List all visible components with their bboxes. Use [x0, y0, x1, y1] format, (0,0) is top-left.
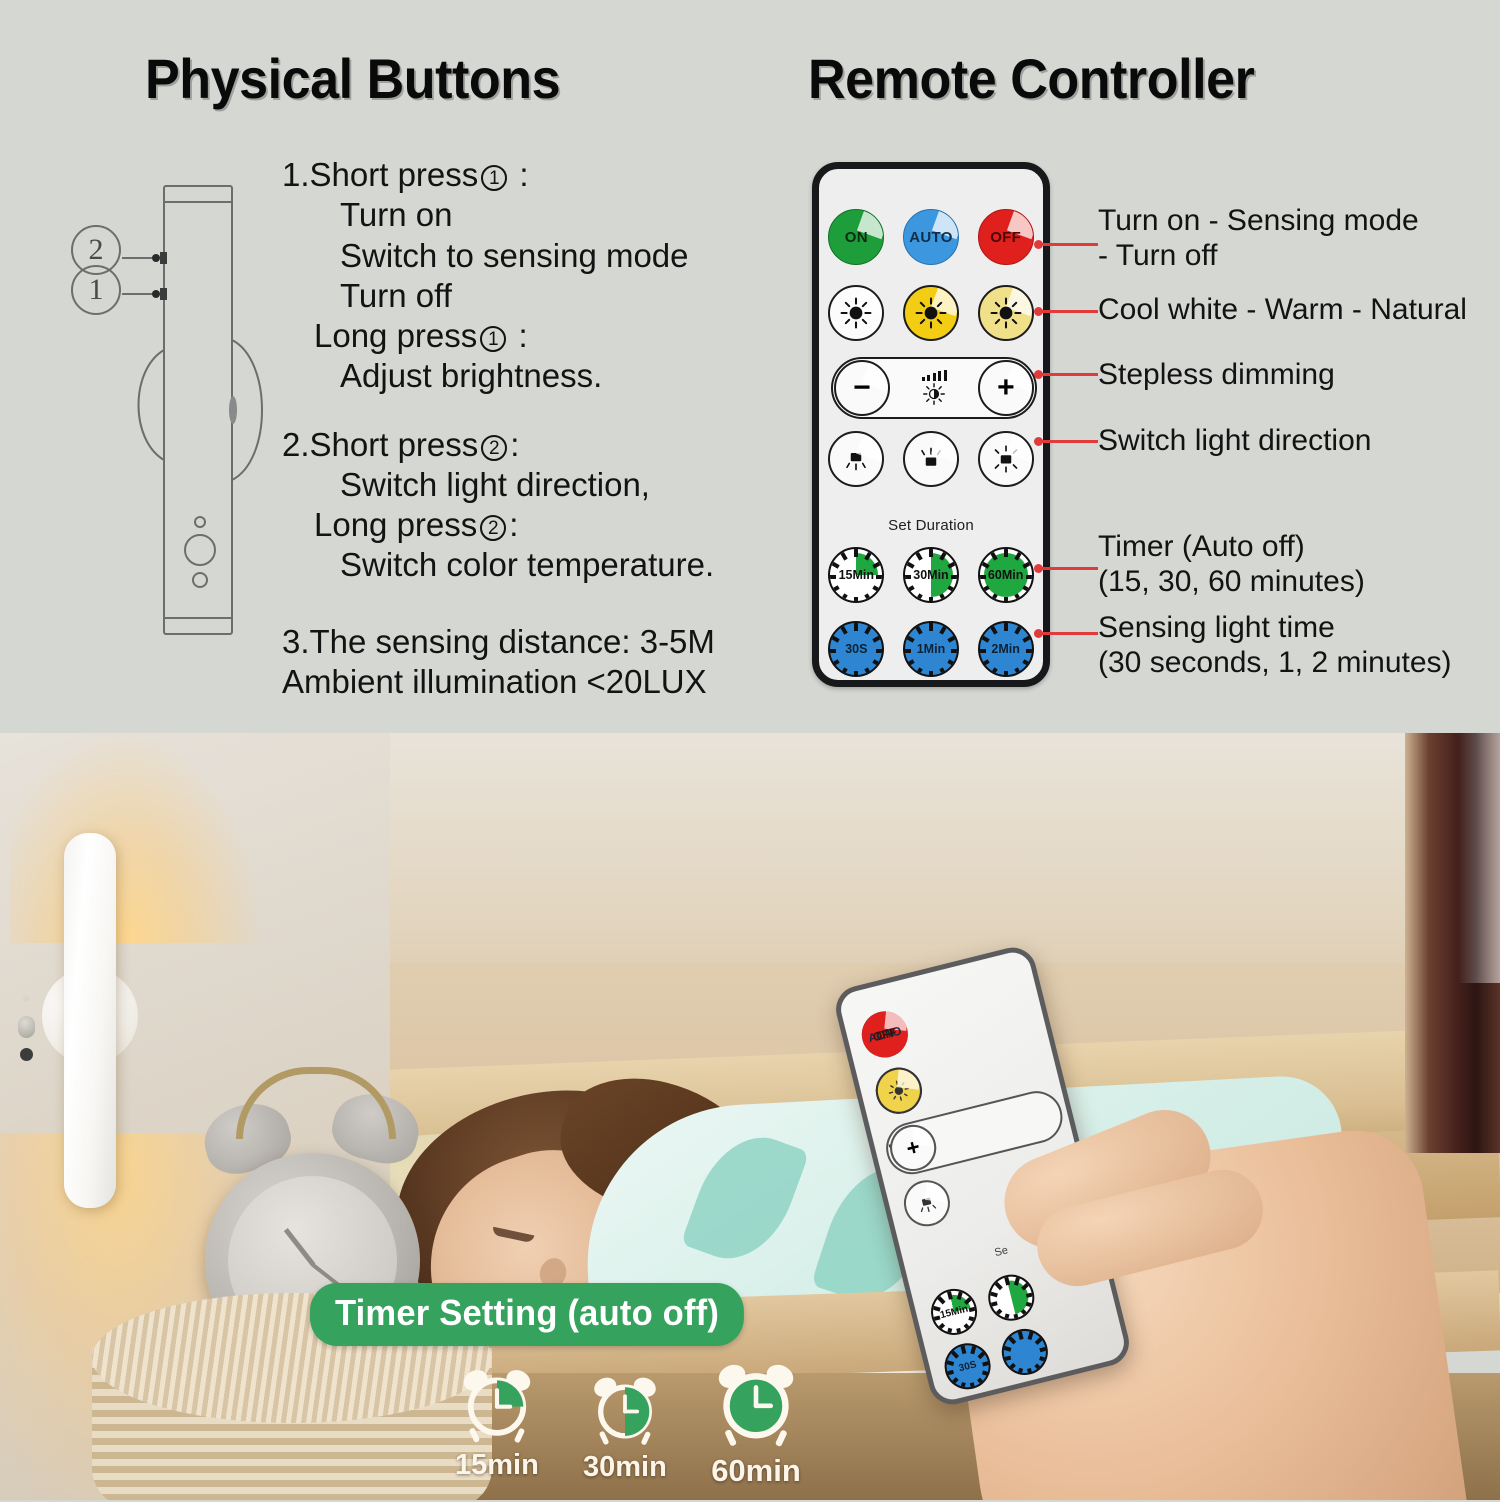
circled-number-2: 2: [480, 515, 506, 541]
remote-button-label: ON: [845, 229, 868, 246]
page-title-remote-controller: Remote Controller: [808, 46, 1254, 111]
leader-dot: [1034, 370, 1043, 379]
brightness-indicator-icon: [922, 370, 947, 406]
annotation-line: Cool white - Warm - Natural: [1098, 292, 1467, 327]
remote-button-label: OFF: [990, 229, 1021, 246]
remote-button-label: 30S: [845, 642, 867, 656]
callout-leader-2: [1040, 310, 1098, 313]
instruction-group-3: 3.The sensing distance: 3-5M Ambient ill…: [282, 622, 802, 703]
annotation-dimming: Stepless dimming: [1098, 357, 1335, 392]
instruction-line: Ambient illumination <20LUX: [282, 662, 802, 702]
remote-button-light-up[interactable]: [903, 431, 959, 487]
alarm-clock-30min-icon: [583, 1372, 667, 1448]
dim-level-bars: [922, 370, 947, 381]
annotation-color-temp: Cool white - Warm - Natural: [1098, 292, 1467, 327]
annotation-line: (30 seconds, 1, 2 minutes): [1098, 645, 1452, 680]
held-remote-button-timer-15min[interactable]: 15Min: [926, 1284, 982, 1340]
remote-button-natural[interactable]: [978, 285, 1034, 341]
remote-button-light-both[interactable]: [978, 431, 1034, 487]
instruction-group-1: 1.Short press1 : Turn on Switch to sensi…: [282, 155, 802, 397]
instruction-suffix: :: [509, 317, 527, 354]
remote-button-label: 15Min: [839, 568, 874, 582]
alarm-clock-15min-icon: [455, 1364, 539, 1446]
annotation-line: Timer (Auto off): [1098, 529, 1365, 564]
instruction-line: Turn off: [282, 276, 802, 316]
circled-number-1: 1: [480, 326, 506, 352]
remote-button-label: −: [853, 379, 871, 397]
instruction-line: Adjust brightness.: [282, 356, 802, 396]
sun-icon: [989, 296, 1023, 330]
remote-button-dim-down[interactable]: −: [834, 360, 890, 416]
instruction-line: Long press1 :: [282, 316, 802, 356]
held-remote-button-label: OFF: [872, 1025, 899, 1044]
lamp-glow-upward: [10, 733, 260, 943]
timer-icon-15min: 15min: [455, 1364, 539, 1482]
device-marker-1-label: 1: [89, 273, 104, 306]
remote-button-label: 1Min: [917, 642, 945, 656]
remote-button-label: 60Min: [988, 568, 1023, 582]
callout-leader-5: [1040, 567, 1098, 570]
lamp-led-dot: [20, 1048, 33, 1061]
instruction-text: 2.Short press: [282, 426, 478, 463]
annotation-line: Turn on - Sensing mode: [1098, 203, 1419, 238]
sun-icon: [839, 296, 873, 330]
motion-sensor-light-bar: [64, 833, 116, 1208]
annotation-timer: Timer (Auto off) (15, 30, 60 minutes): [1098, 529, 1365, 600]
lamp-indicator-dot: [23, 995, 30, 1002]
remote-row-dimming: − +: [831, 357, 1037, 419]
device-diagram-svg: 2 1: [60, 160, 300, 660]
half-sun-icon: [922, 382, 946, 406]
timer-icon-label: 60min: [710, 1453, 802, 1489]
remote-button-on[interactable]: ON: [828, 209, 884, 265]
page-title-physical-buttons: Physical Buttons: [145, 46, 560, 111]
annotation-sensing: Sensing light time (30 seconds, 1, 2 min…: [1098, 610, 1452, 681]
timer-icon-30min: 30min: [583, 1372, 667, 1484]
remote-button-label: +: [997, 379, 1015, 397]
annotation-line: Sensing light time: [1098, 610, 1452, 645]
callout-leader-3: [1040, 373, 1098, 376]
remote-controller-diagram: ON AUTO OFF: [812, 162, 1050, 687]
light-down-icon: [912, 1189, 941, 1218]
alarm-clock-icon: [587, 1372, 663, 1448]
instruction-text: Long press: [314, 317, 477, 354]
instruction-text: 1.Short press: [282, 156, 478, 193]
remote-button-timer-60min[interactable]: 60Min: [978, 547, 1034, 603]
remote-button-label: AUTO: [909, 229, 952, 246]
instruction-suffix: :: [509, 506, 518, 543]
instruction-line: Turn on: [282, 195, 802, 235]
annotation-line: - Turn off: [1098, 238, 1419, 273]
instruction-line: 1.Short press1 :: [282, 155, 802, 195]
remote-button-label: 30Min: [913, 568, 948, 582]
timer-setting-banner: Timer Setting (auto off): [310, 1283, 744, 1346]
remote-button-sensing-2min[interactable]: 2Min: [978, 621, 1034, 677]
leader-dot: [1034, 240, 1043, 249]
remote-button-dim-up[interactable]: +: [978, 360, 1034, 416]
leader-dot: [1034, 564, 1043, 573]
dial-ticks: [986, 1272, 1037, 1323]
alarm-clock-icon: [710, 1358, 802, 1450]
sun-icon: [884, 1076, 913, 1105]
held-remote-button-off[interactable]: OFF: [857, 1007, 913, 1063]
set-duration-label: Set Duration: [819, 517, 1043, 534]
annotation-power: Turn on - Sensing mode - Turn off: [1098, 203, 1419, 274]
remote-button-label: 2Min: [991, 642, 1019, 656]
remote-button-cool-white[interactable]: [828, 285, 884, 341]
remote-button-timer-15min[interactable]: 15Min: [828, 547, 884, 603]
remote-button-warm[interactable]: [903, 285, 959, 341]
held-remote-button-dim-up[interactable]: +: [885, 1120, 941, 1176]
annotation-line: (15, 30, 60 minutes): [1098, 564, 1365, 599]
curtain-highlight: [1458, 733, 1500, 983]
remote-row-sensing: 30S 1Min 2Min: [819, 621, 1043, 677]
device-marker-2-label: 2: [89, 233, 104, 266]
light-both-icon: [991, 444, 1021, 474]
timer-icon-label: 30min: [583, 1451, 667, 1484]
instruction-line: Switch light direction,: [282, 465, 802, 505]
annotation-line: Stepless dimming: [1098, 357, 1335, 392]
held-remote-button-natural[interactable]: [871, 1063, 927, 1119]
instruction-suffix: :: [510, 426, 519, 463]
held-remote-button-sensing-1min[interactable]: [997, 1324, 1053, 1380]
held-remote-button-timer-30min[interactable]: [983, 1270, 1039, 1326]
sun-icon: [914, 296, 948, 330]
instruction-line: Long press2:: [282, 505, 802, 545]
remote-button-light-down[interactable]: [828, 431, 884, 487]
device-line-drawing: 2 1: [60, 160, 300, 660]
instruction-suffix: :: [510, 156, 528, 193]
timer-icon-label: 15min: [455, 1449, 539, 1482]
instruction-line: Switch to sensing mode: [282, 236, 802, 276]
annotation-direction: Switch light direction: [1098, 423, 1371, 458]
annotation-line: Switch light direction: [1098, 423, 1371, 458]
leader-dot: [1034, 437, 1043, 446]
callout-leader-6: [1040, 632, 1098, 635]
instruction-panel: Physical Buttons Remote Controller: [0, 0, 1500, 735]
remote-button-auto[interactable]: AUTO: [903, 209, 959, 265]
instruction-line: 2.Short press2:: [282, 425, 802, 465]
callout-leader-4: [1040, 440, 1098, 443]
circled-number-1: 1: [481, 165, 507, 191]
remote-button-off[interactable]: OFF: [978, 209, 1034, 265]
remote-button-timer-30min[interactable]: 30Min: [903, 547, 959, 603]
light-down-icon: [841, 444, 871, 474]
remote-button-sensing-30s[interactable]: 30S: [828, 621, 884, 677]
leader-dot: [1034, 307, 1043, 316]
remote-row-direction: [819, 431, 1043, 487]
alarm-clock-icon: [456, 1364, 538, 1446]
remote-row-power: ON AUTO OFF: [819, 209, 1043, 265]
instruction-group-2: 2.Short press2: Switch light direction, …: [282, 425, 802, 586]
remote-row-color-temp: [819, 285, 1043, 341]
held-remote-button-sensing-30s[interactable]: 30S: [940, 1338, 996, 1394]
timer-icon-group: 15min 30min: [455, 1352, 825, 1502]
instruction-text: Long press: [314, 506, 477, 543]
held-remote-button-light-down[interactable]: [899, 1175, 955, 1231]
alarm-clock-60min-icon: [710, 1358, 802, 1450]
light-up-icon: [916, 444, 946, 474]
remote-button-sensing-1min[interactable]: 1Min: [903, 621, 959, 677]
leader-dot: [1034, 629, 1043, 638]
instruction-line: Switch color temperature.: [282, 545, 802, 585]
lamp-motion-sensor: [18, 1016, 35, 1038]
callout-leader-1: [1040, 243, 1098, 246]
dial-ticks: [999, 1327, 1050, 1378]
circled-number-2: 2: [481, 435, 507, 461]
instruction-text-block: 1.Short press1 : Turn on Switch to sensi…: [282, 155, 802, 708]
timer-icon-60min: 60min: [710, 1358, 802, 1489]
instruction-line: 3.The sensing distance: 3-5M: [282, 622, 802, 662]
remote-row-timer: 15Min 30Min 60Min: [819, 547, 1043, 603]
